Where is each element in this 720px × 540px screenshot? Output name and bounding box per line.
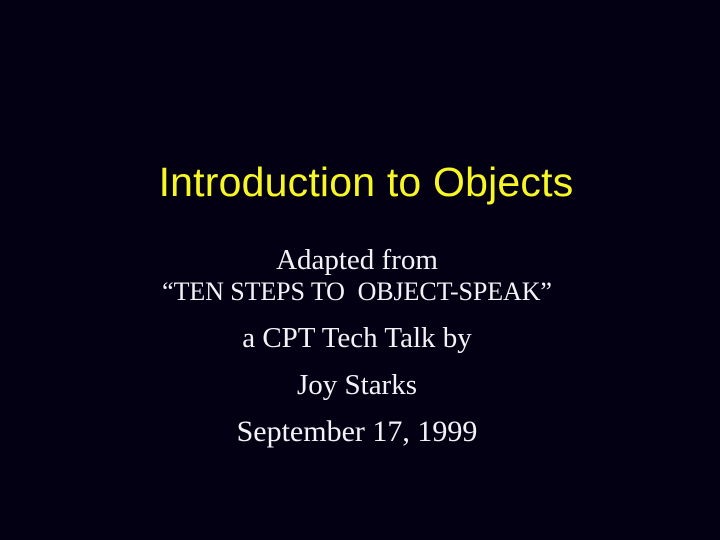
slide-body-container: Adapted from “TEN STEPS TO OBJECT-SPEAK”… xyxy=(0,243,714,448)
subtitle-line-date: September 17, 1999 xyxy=(0,416,714,448)
slide-title-container: Introduction to Objects xyxy=(0,158,720,206)
subtitle-line-talk-type: a CPT Tech Talk by xyxy=(0,322,714,354)
subtitle-line-author: Joy Starks xyxy=(0,369,714,401)
slide-title: Introduction to Objects xyxy=(159,158,574,206)
presentation-slide: Introduction to Objects Adapted from “TE… xyxy=(0,0,720,540)
subtitle-line-adapted-from: Adapted from xyxy=(0,243,714,277)
subtitle-line-source-title: “TEN STEPS TO OBJECT-SPEAK” xyxy=(0,277,714,307)
